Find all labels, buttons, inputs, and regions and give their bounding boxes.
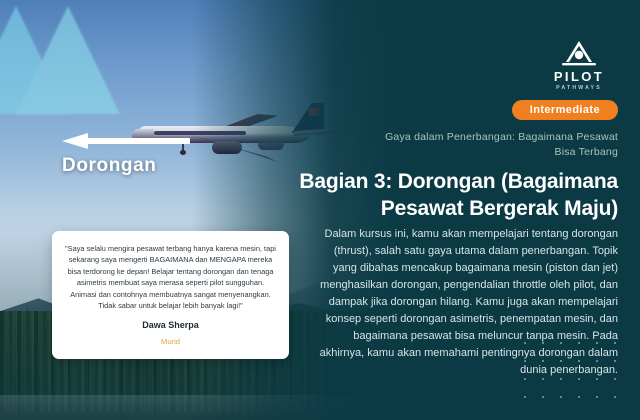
page-title: Bagian 3: Dorongan (Bagaimana Pesawat Be… bbox=[258, 168, 618, 222]
brand-logo: PILOT PATHWAYS bbox=[542, 38, 616, 91]
testimonial-quote: "Saya selalu mengira pesawat terbang han… bbox=[65, 243, 276, 311]
testimonial-role: Murid bbox=[65, 337, 276, 346]
brand-tagline: PATHWAYS bbox=[542, 85, 616, 91]
slide-root: Dorongan PILOT PATHWAYS Intermediate Gay… bbox=[0, 0, 640, 420]
brand-name: PILOT bbox=[542, 69, 616, 84]
course-description: Dalam kursus ini, kamu akan mempelajari … bbox=[318, 226, 618, 379]
pilot-pathways-emblem-icon bbox=[542, 38, 616, 68]
status-badge: Intermediate bbox=[512, 100, 618, 120]
testimonial-author: Dawa Sherpa bbox=[65, 320, 276, 330]
testimonial-card: "Saya selalu mengira pesawat terbang han… bbox=[52, 231, 289, 359]
course-subtitle: Gaya dalam Penerbangan: Bagaimana Pesawa… bbox=[368, 130, 618, 160]
